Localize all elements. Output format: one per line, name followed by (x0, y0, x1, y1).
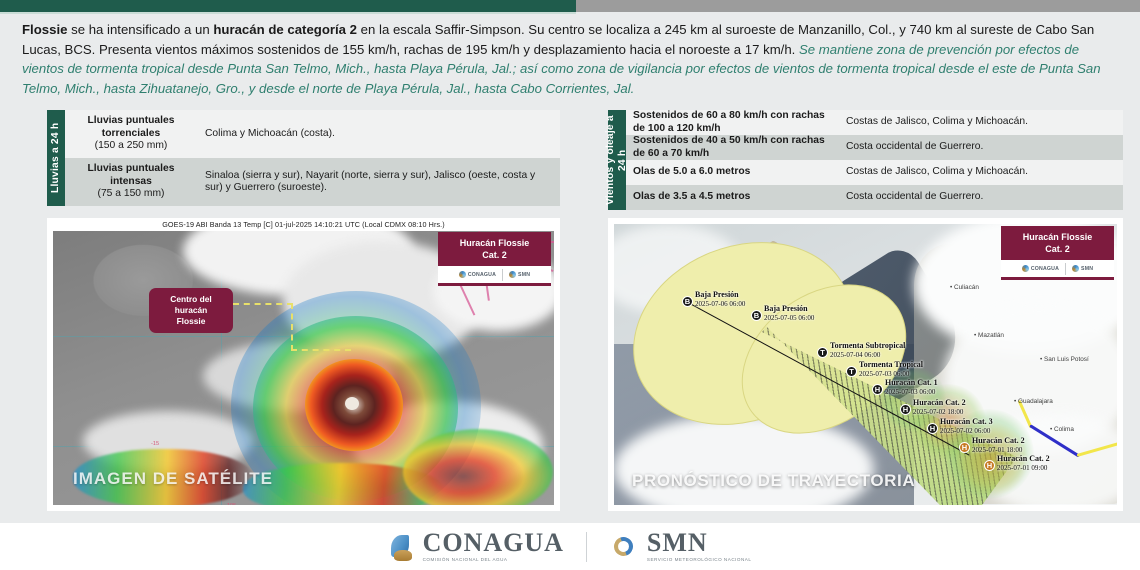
rain-intensity-label: Lluvias puntuales torrenciales (88, 115, 175, 139)
track-point-datetime: 2025-07-01 18:00 (972, 446, 1022, 454)
callout-leader-line (291, 303, 293, 351)
track-point: B (751, 310, 762, 321)
track-point-name: Baja Presión (695, 290, 739, 299)
top-accent-gray (576, 0, 1140, 12)
track-point-name: Huracán Cat. 2 (997, 454, 1050, 463)
track-point: T (817, 347, 828, 358)
track-point-name: Baja Presión (764, 304, 808, 313)
satellite-header-text: GOES-19 ABI Banda 13 Temp [C] 01-jul-202… (47, 218, 560, 231)
footer-divider (586, 532, 587, 562)
convective-band-southeast (403, 429, 553, 505)
wind-gust-text: de 100 a 120 km/h (633, 123, 721, 134)
wind-value-cell: Olas de 3.5 a 4.5 metros (626, 185, 838, 210)
wind-type-label: Sostenidos (633, 135, 689, 146)
callout-line-1: Centro del (170, 294, 211, 304)
rain-range-label: (75 a 150 mm) (98, 188, 165, 199)
bulletin-narrative: Flossie se ha intensificado a un huracán… (22, 20, 1122, 98)
top-accent-bar (0, 0, 1140, 12)
callout-line-2: huracán (175, 305, 208, 315)
track-point-name: Huracán Cat. 3 (940, 417, 993, 426)
trajectory-storm-badge: Huracán Flossie Cat. 2 CONAGUA SMN (1001, 226, 1114, 280)
badge-title: Huracán Flossie Cat. 2 (438, 232, 551, 266)
conagua-footer-name: CONAGUA (423, 530, 564, 556)
rain-range-label: (150 a 250 mm) (95, 140, 168, 151)
track-point-datetime: 2025-07-04 06:00 (830, 351, 880, 359)
callout-leader-line (291, 349, 351, 351)
badge-storm-name: Huracán Flossie (460, 238, 530, 248)
track-point: H (927, 423, 938, 434)
track-point-label: Baja Presión 2025-07-05 06:00 (764, 304, 814, 323)
conagua-logo: CONAGUA (459, 271, 496, 278)
grid-label: -15 (151, 441, 159, 447)
track-point-label: Baja Presión 2025-07-06 06:00 (695, 290, 745, 309)
city-label: Guadalajara (1014, 398, 1053, 405)
badge-logos: CONAGUA SMN (1001, 260, 1114, 280)
top-accent-green (0, 0, 576, 12)
table-row: Sostenidos de 60 a 80 km/h con rachas de… (626, 110, 1123, 135)
smn-logo: SMN (1072, 265, 1093, 272)
city-label: San Luis Potosí (1040, 356, 1089, 363)
trajectory-watermark: PRONÓSTICO DE TRAYECTORIA (632, 471, 915, 491)
hurricane-eye (345, 397, 359, 410)
water-drop-icon (1022, 265, 1029, 272)
smn-logo-text: SMN (1081, 266, 1093, 272)
spiral-icon (1072, 265, 1079, 272)
wind-value-cell: Sostenidos de 40 a 50 km/h con rachas de… (626, 135, 838, 160)
badge-storm-name: Huracán Flossie (1023, 232, 1093, 242)
rain-table-vertical-header-text: Lluvias a 24 h (50, 123, 62, 193)
table-row: Sostenidos de 40 a 50 km/h con rachas de… (626, 135, 1123, 160)
badge-category: Cat. 2 (1045, 244, 1070, 254)
track-point-name: Huracán Cat. 1 (885, 378, 938, 387)
conagua-footer-text: CONAGUA COMISIÓN NACIONAL DEL AGUA (423, 530, 564, 563)
wind-gust-text: de 60 a 70 km/h (633, 148, 709, 159)
wind-value-cell: Sostenidos de 60 a 80 km/h con rachas de… (626, 110, 838, 135)
city-label: Culiacán (950, 284, 979, 291)
conagua-logo: CONAGUA (1022, 265, 1059, 272)
spiral-icon (611, 533, 636, 558)
conagua-footer-logo: CONAGUA COMISIÓN NACIONAL DEL AGUA (389, 530, 564, 563)
smn-footer-logo: SMN SERVICIO METEOROLÓGICO NACIONAL (609, 530, 752, 563)
wind-gust-label: rachas (792, 110, 825, 121)
conagua-emblem-icon (389, 533, 415, 561)
track-point-datetime: 2025-07-02 18:00 (913, 408, 963, 416)
track-point: B (682, 296, 693, 307)
callout-leader-line (233, 303, 293, 305)
wind-value-text: de 60 a 80 km/h con (689, 110, 792, 121)
logo-divider (502, 269, 503, 281)
track-point-datetime: 2025-07-06 06:00 (695, 300, 745, 308)
track-point-datetime: 2025-07-02 06:00 (940, 427, 990, 435)
track-point: H (900, 404, 911, 415)
wind-table-vertical-header: Vientos y oleaje a 24 h (608, 110, 626, 210)
track-point-label: Huracán Cat. 2 2025-07-01 09:00 (997, 454, 1050, 473)
callout-line-3: Flossie (177, 316, 206, 326)
table-row: Olas de 3.5 a 4.5 metros Costa occidenta… (626, 185, 1123, 210)
logo-divider (1065, 263, 1066, 275)
wave-regions-cell: Costa occidental de Guerrero. (838, 185, 1123, 210)
track-point-datetime: 2025-07-03 06:00 (885, 388, 935, 396)
satellite-image-panel: GOES-19 ABI Banda 13 Temp [C] 01-jul-202… (47, 218, 560, 511)
track-point: H (872, 384, 883, 395)
rain-regions-cell: Sinaloa (sierra y sur), Nayarit (norte, … (197, 158, 560, 206)
smn-footer-text: SMN SERVICIO METEOROLÓGICO NACIONAL (647, 530, 752, 563)
smn-logo-text: SMN (518, 272, 530, 278)
wind-value-cell: Olas de 5.0 a 6.0 metros (626, 160, 838, 185)
rain-regions-cell: Colima y Michoacán (costa). (197, 110, 560, 158)
conagua-logo-text: CONAGUA (468, 272, 496, 278)
track-point-label: Tormenta Tropical 2025-07-03 06:00 (859, 360, 923, 379)
table-row: Olas de 5.0 a 6.0 metros Costas de Jalis… (626, 160, 1123, 185)
rain-intensity-label: Lluvias puntuales intensas (88, 163, 175, 187)
rain-table: Lluvias a 24 h Lluvias puntuales torrenc… (47, 110, 560, 206)
conagua-logo-text: CONAGUA (1031, 266, 1059, 272)
wave-type-label: Olas (633, 191, 655, 202)
track-point: H (984, 460, 995, 471)
wave-value-text: de 5.0 a 6.0 metros (655, 166, 750, 177)
spiral-icon (509, 271, 516, 278)
track-point-datetime: 2025-07-01 09:00 (997, 464, 1047, 472)
top-accent-rule (0, 12, 576, 14)
track-point-label: Huracán Cat. 2 2025-07-01 18:00 (972, 436, 1025, 455)
track-point-datetime: 2025-07-05 06:00 (764, 314, 814, 322)
trajectory-forecast-panel: Culiacán Mazatlán San Luis Potosí Guadal… (608, 218, 1123, 511)
conagua-footer-sub: COMISIÓN NACIONAL DEL AGUA (423, 558, 564, 563)
track-point-datetime: 2025-07-03 06:00 (859, 370, 909, 378)
track-point-name: Huracán Cat. 2 (972, 436, 1025, 445)
city-label: Colima (1050, 426, 1074, 433)
wave-type-label: Olas (633, 166, 655, 177)
water-drop-icon (459, 271, 466, 278)
badge-title: Huracán Flossie Cat. 2 (1001, 226, 1114, 260)
hurricane-center-callout: Centro del huracán Flossie (149, 288, 233, 333)
track-point: H (959, 442, 970, 453)
eagle-icon (394, 550, 412, 561)
badge-category: Cat. 2 (482, 250, 507, 260)
rain-intensity-cell: Lluvias puntuales intensas(75 a 150 mm) (65, 158, 197, 206)
smn-footer-name: SMN (647, 530, 752, 556)
narrative-category: huracán de categoría 2 (213, 22, 357, 37)
wave-value-text: de 3.5 a 4.5 metros (655, 191, 750, 202)
page-footer: CONAGUA COMISIÓN NACIONAL DEL AGUA SMN S… (0, 523, 1140, 570)
city-label: Mazatlán (974, 332, 1004, 339)
wind-regions-cell: Costas de Jalisco, Colima y Michoacán. (838, 110, 1123, 135)
rain-intensity-cell: Lluvias puntuales torrenciales(150 a 250… (65, 110, 197, 158)
table-row: Lluvias puntuales torrenciales(150 a 250… (65, 110, 560, 158)
track-point-name: Tormenta Tropical (859, 360, 923, 369)
track-point-label: Huracán Cat. 1 2025-07-03 06:00 (885, 378, 938, 397)
grid-label: -105 (225, 503, 236, 505)
table-row: Lluvias puntuales intensas(75 a 150 mm) … (65, 158, 560, 206)
rain-table-vertical-header: Lluvias a 24 h (47, 110, 65, 206)
track-point: T (846, 366, 857, 377)
wind-table-vertical-header-text: Vientos y oleaje a 24 h (605, 112, 629, 208)
rain-table-rows: Lluvias puntuales torrenciales(150 a 250… (65, 110, 560, 206)
track-point-label: Huracán Cat. 3 2025-07-02 06:00 (940, 417, 993, 436)
wind-value-text: de 40 a 50 km/h con (689, 135, 792, 146)
narrative-text-1: se ha intensificado a un (67, 22, 213, 37)
satellite-storm-badge: Huracán Flossie Cat. 2 CONAGUA SMN (438, 232, 551, 286)
track-point-name: Huracán Cat. 2 (913, 398, 966, 407)
narrative-storm-name: Flossie (22, 22, 67, 37)
track-point-label: Huracán Cat. 2 2025-07-02 18:00 (913, 398, 966, 417)
wind-regions-cell: Costa occidental de Guerrero. (838, 135, 1123, 160)
smn-logo: SMN (509, 271, 530, 278)
badge-logos: CONAGUA SMN (438, 266, 551, 286)
smn-footer-sub: SERVICIO METEOROLÓGICO NACIONAL (647, 558, 752, 563)
wind-table: Vientos y oleaje a 24 h Sostenidos de 60… (608, 110, 1123, 210)
satellite-watermark: IMAGEN DE SATÉLITE (73, 469, 273, 489)
track-point-name: Tormenta Subtropical (830, 341, 905, 350)
smn-emblem-icon (609, 532, 639, 562)
wave-regions-cell: Costas de Jalisco, Colima y Michoacán. (838, 160, 1123, 185)
wind-table-rows: Sostenidos de 60 a 80 km/h con rachas de… (626, 110, 1123, 210)
wind-type-label: Sostenidos (633, 110, 689, 121)
wind-gust-label: rachas (792, 135, 825, 146)
track-point-label: Tormenta Subtropical 2025-07-04 06:00 (830, 341, 905, 360)
